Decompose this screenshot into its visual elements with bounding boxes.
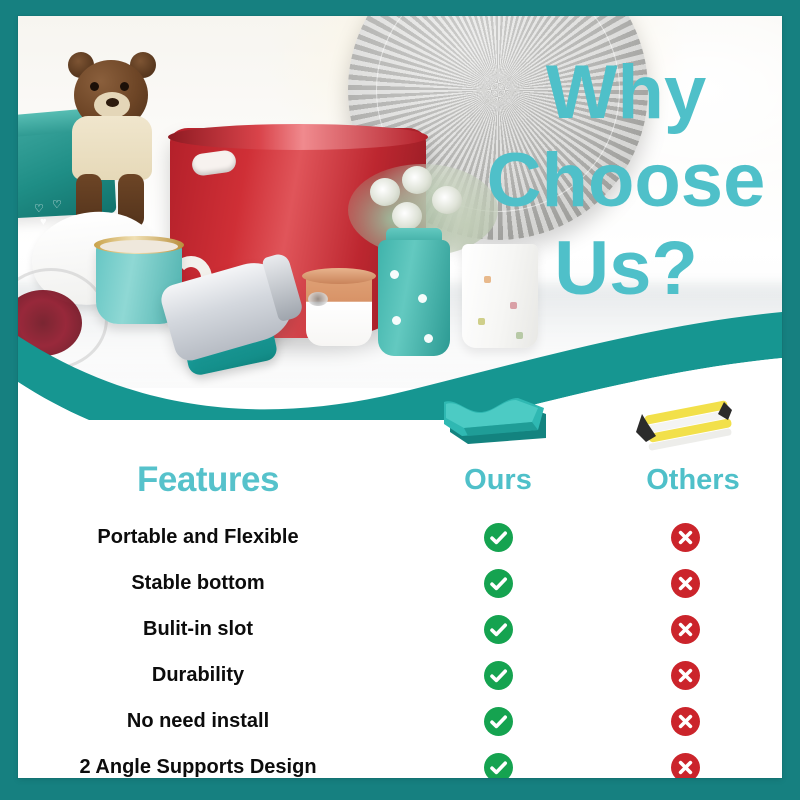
poster-canvas: & ♡ ♡ ♥	[18, 16, 782, 778]
cross-icon	[671, 523, 700, 552]
table-row: Portable and Flexible	[18, 514, 782, 560]
svg-text:Choose: Choose	[487, 138, 766, 223]
column-header-features: Features	[118, 460, 298, 500]
check-icon	[484, 569, 513, 598]
feature-label: Bulit-in slot	[28, 606, 368, 652]
column-header-ours: Ours	[418, 464, 578, 497]
poster-root: & ♡ ♡ ♥	[0, 0, 800, 800]
table-row: 2 Angle Supports Design	[18, 744, 782, 778]
feature-label: 2 Angle Supports Design	[28, 744, 368, 778]
check-icon	[484, 615, 513, 644]
feature-label: Durability	[28, 652, 368, 698]
feature-rows: Portable and FlexibleStable bottomBulit-…	[18, 514, 782, 778]
ours-product-image	[434, 378, 564, 452]
table-row: Durability	[18, 652, 782, 698]
table-row: Bulit-in slot	[18, 606, 782, 652]
column-header-others: Others	[608, 464, 778, 497]
cross-icon	[671, 661, 700, 690]
feature-label: No need install	[28, 698, 368, 744]
check-icon	[484, 661, 513, 690]
cross-icon	[671, 569, 700, 598]
others-product-image	[622, 380, 752, 454]
svg-text:Why: Why	[546, 50, 706, 135]
check-icon	[484, 707, 513, 736]
check-icon	[484, 523, 513, 552]
cross-icon	[671, 707, 700, 736]
check-icon	[484, 753, 513, 778]
feature-label: Portable and Flexible	[28, 514, 368, 560]
table-row: No need install	[18, 698, 782, 744]
feature-label: Stable bottom	[28, 560, 368, 606]
table-column-headers: Features Ours Others	[18, 460, 782, 506]
cross-icon	[671, 615, 700, 644]
comparison-table: Features Ours Others Portable and Flexib…	[18, 368, 782, 778]
cross-icon	[671, 753, 700, 778]
table-row: Stable bottom	[18, 560, 782, 606]
svg-text:Us?: Us?	[554, 226, 698, 311]
